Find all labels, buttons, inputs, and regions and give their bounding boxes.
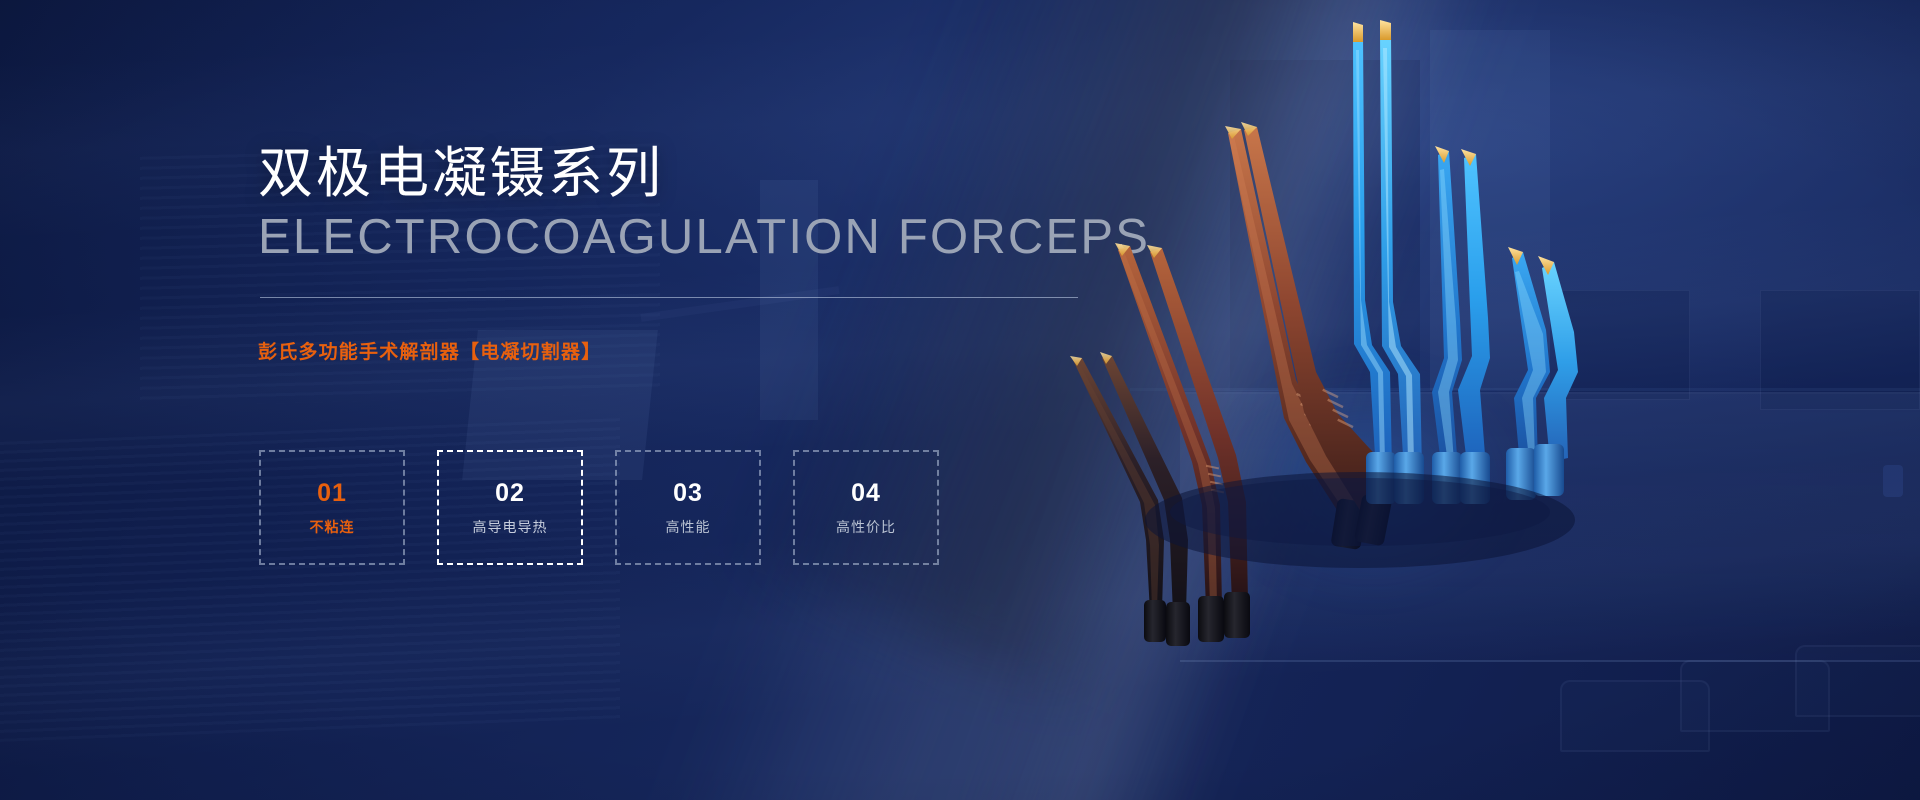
forceps-blue-4 xyxy=(1458,149,1490,504)
feature-number: 04 xyxy=(851,481,881,506)
feature-label: 不粘连 xyxy=(310,520,355,534)
product-banner: 双极电凝镊系列 ELECTROCOAGULATION FORCEPS 彭氏多功能… xyxy=(0,0,1920,800)
feature-label: 高导电导热 xyxy=(473,520,548,534)
forceps-blue-3 xyxy=(1432,146,1462,504)
feature-number: 02 xyxy=(495,481,525,506)
feature-label: 高性能 xyxy=(666,520,711,534)
feature-number: 03 xyxy=(673,481,703,506)
forceps-fan-illustration xyxy=(1060,0,1620,800)
feature-card-04[interactable]: 04 高性价比 xyxy=(793,450,939,565)
product-image xyxy=(1060,0,1620,800)
page-title-en: ELECTROCOAGULATION FORCEPS xyxy=(258,212,1150,263)
feature-number: 01 xyxy=(317,481,347,506)
feature-card-02[interactable]: 02 高导电导热 xyxy=(437,450,583,565)
title-divider xyxy=(260,297,1078,298)
forceps-copper-1 xyxy=(1070,356,1166,642)
feature-label: 高性价比 xyxy=(836,520,896,534)
page-title-cn: 双极电凝镊系列 xyxy=(258,143,664,204)
feature-list: 01 不粘连 02 高导电导热 03 高性能 04 高性价比 xyxy=(259,450,971,565)
forceps-group xyxy=(1070,20,1578,646)
feature-card-03[interactable]: 03 高性能 xyxy=(615,450,761,565)
banner-text-column: 双极电凝镊系列 ELECTROCOAGULATION FORCEPS 彭氏多功能… xyxy=(0,0,1100,800)
feature-card-01[interactable]: 01 不粘连 xyxy=(259,450,405,565)
product-subtitle: 彭氏多功能手术解剖器【电凝切割器】 xyxy=(258,337,601,364)
